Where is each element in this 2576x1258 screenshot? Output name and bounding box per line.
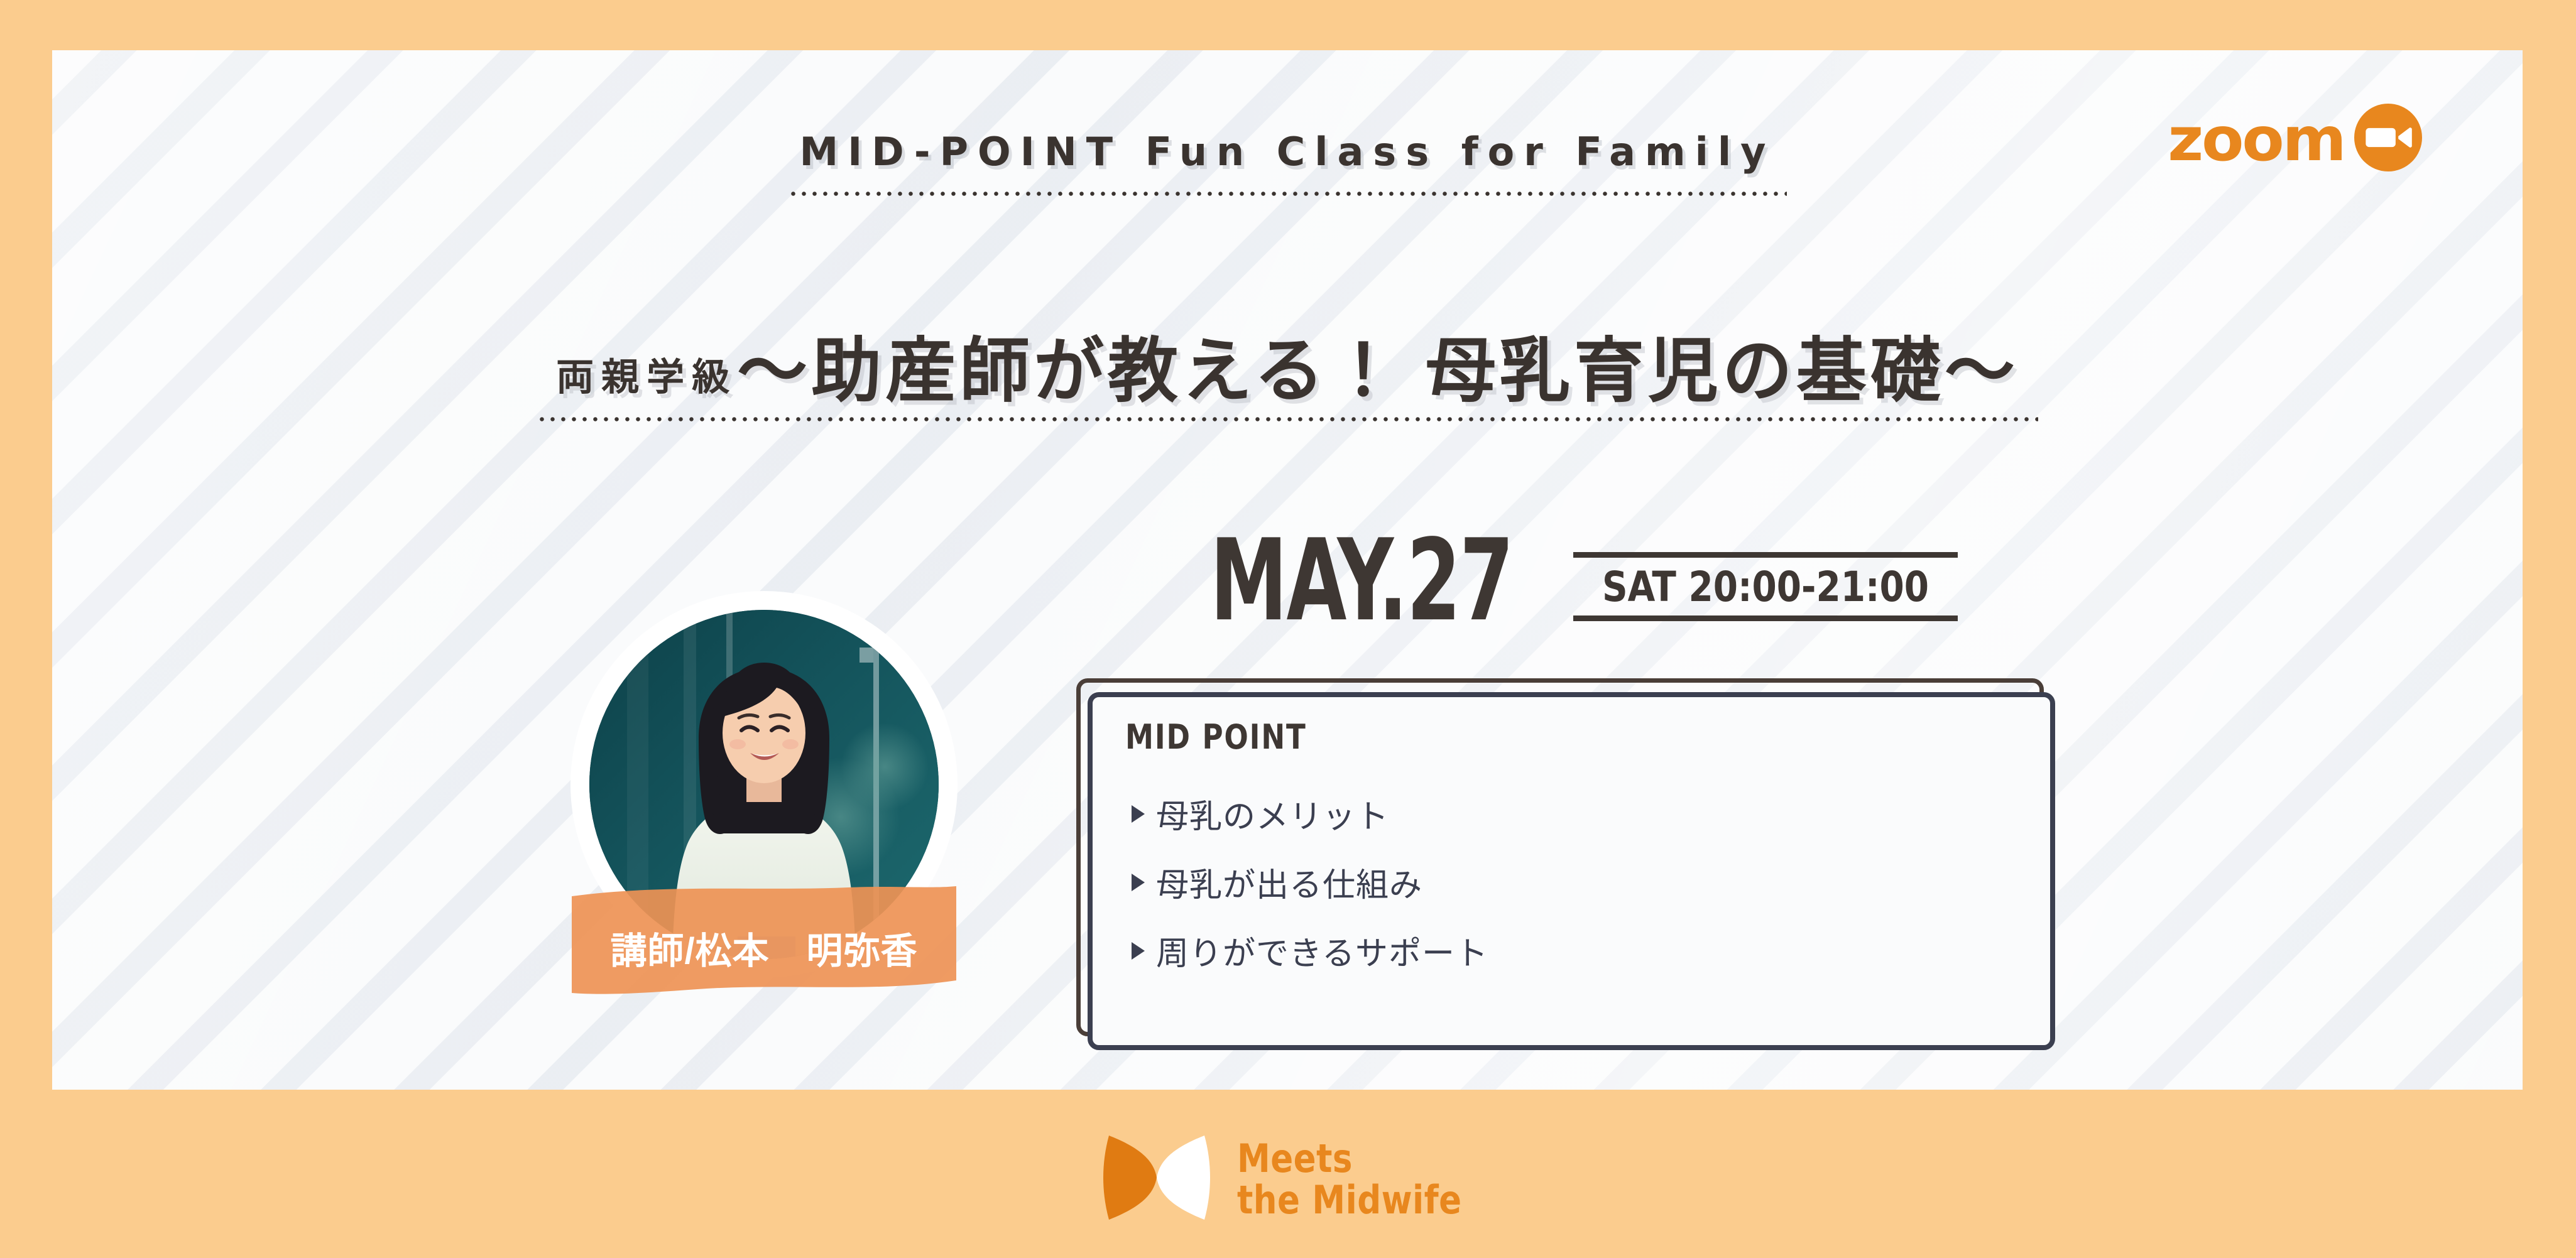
event-date: MAY.27 bbox=[1210, 537, 1513, 625]
midpoint-list: 母乳のメリット 母乳が出る仕組み 周りができるサポート bbox=[1132, 790, 2025, 995]
eyebrow-block: MID-POINT Fun Class for Family bbox=[52, 129, 2523, 198]
instructor-portrait: 講師/松本 明弥香 bbox=[572, 611, 956, 913]
list-item: 母乳のメリット bbox=[1132, 790, 2025, 837]
midpoint-heading: MID POINT bbox=[1125, 717, 1307, 757]
main-title-prefix: 両親学級 bbox=[556, 356, 737, 398]
schedule-row: MAY.27 SAT 20:00-21:00 bbox=[1210, 546, 1958, 625]
list-item-label: 周りができるサポート bbox=[1156, 927, 1488, 974]
poster-card: zoom MID-POINT Fun Class for Family 両親学級… bbox=[52, 50, 2523, 1090]
footer-brand: Meets the Midwife bbox=[0, 1131, 2576, 1228]
poster-canvas: zoom MID-POINT Fun Class for Family 両親学級… bbox=[0, 0, 2576, 1258]
instructor-name-banner: 講師/松本 明弥香 bbox=[572, 882, 956, 1002]
footer-brand-line2: the Midwife bbox=[1237, 1179, 1462, 1221]
footer-brand-text: Meets the Midwife bbox=[1237, 1138, 1462, 1220]
triangle-right-icon bbox=[1132, 874, 1145, 891]
triangle-right-icon bbox=[1132, 942, 1145, 960]
eyebrow-dotted-rule bbox=[788, 190, 1787, 198]
meets-the-midwife-logo-icon bbox=[1103, 1131, 1211, 1228]
event-time: SAT 20:00-21:00 bbox=[1583, 567, 1948, 608]
list-item-label: 母乳のメリット bbox=[1156, 790, 1389, 837]
list-item: 周りができるサポート bbox=[1132, 927, 2025, 974]
list-item: 母乳が出る仕組み bbox=[1132, 859, 2025, 906]
main-title: 両親学級〜助産師が教える！ 母乳育児の基礎〜 bbox=[556, 336, 2019, 406]
list-item-label: 母乳が出る仕組み bbox=[1156, 859, 1422, 906]
main-title-block: 両親学級〜助産師が教える！ 母乳育児の基礎〜 bbox=[52, 336, 2523, 423]
main-title-text: 〜助産師が教える！ 母乳育児の基礎〜 bbox=[737, 332, 2019, 410]
eyebrow-text: MID-POINT Fun Class for Family bbox=[795, 129, 1779, 185]
footer-brand-line1: Meets bbox=[1237, 1138, 1462, 1179]
instructor-name: 講師/松本 明弥香 bbox=[572, 921, 956, 974]
midpoint-panel-inner-border: MID POINT 母乳のメリット 母乳が出る仕組み 周りができるサポート bbox=[1088, 692, 2055, 1050]
event-time-box: SAT 20:00-21:00 bbox=[1573, 552, 1958, 621]
midpoint-panel: MID POINT 母乳のメリット 母乳が出る仕組み 周りができるサポート bbox=[1076, 678, 2044, 1036]
triangle-right-icon bbox=[1132, 805, 1145, 823]
main-title-dotted-rule bbox=[537, 415, 2038, 423]
